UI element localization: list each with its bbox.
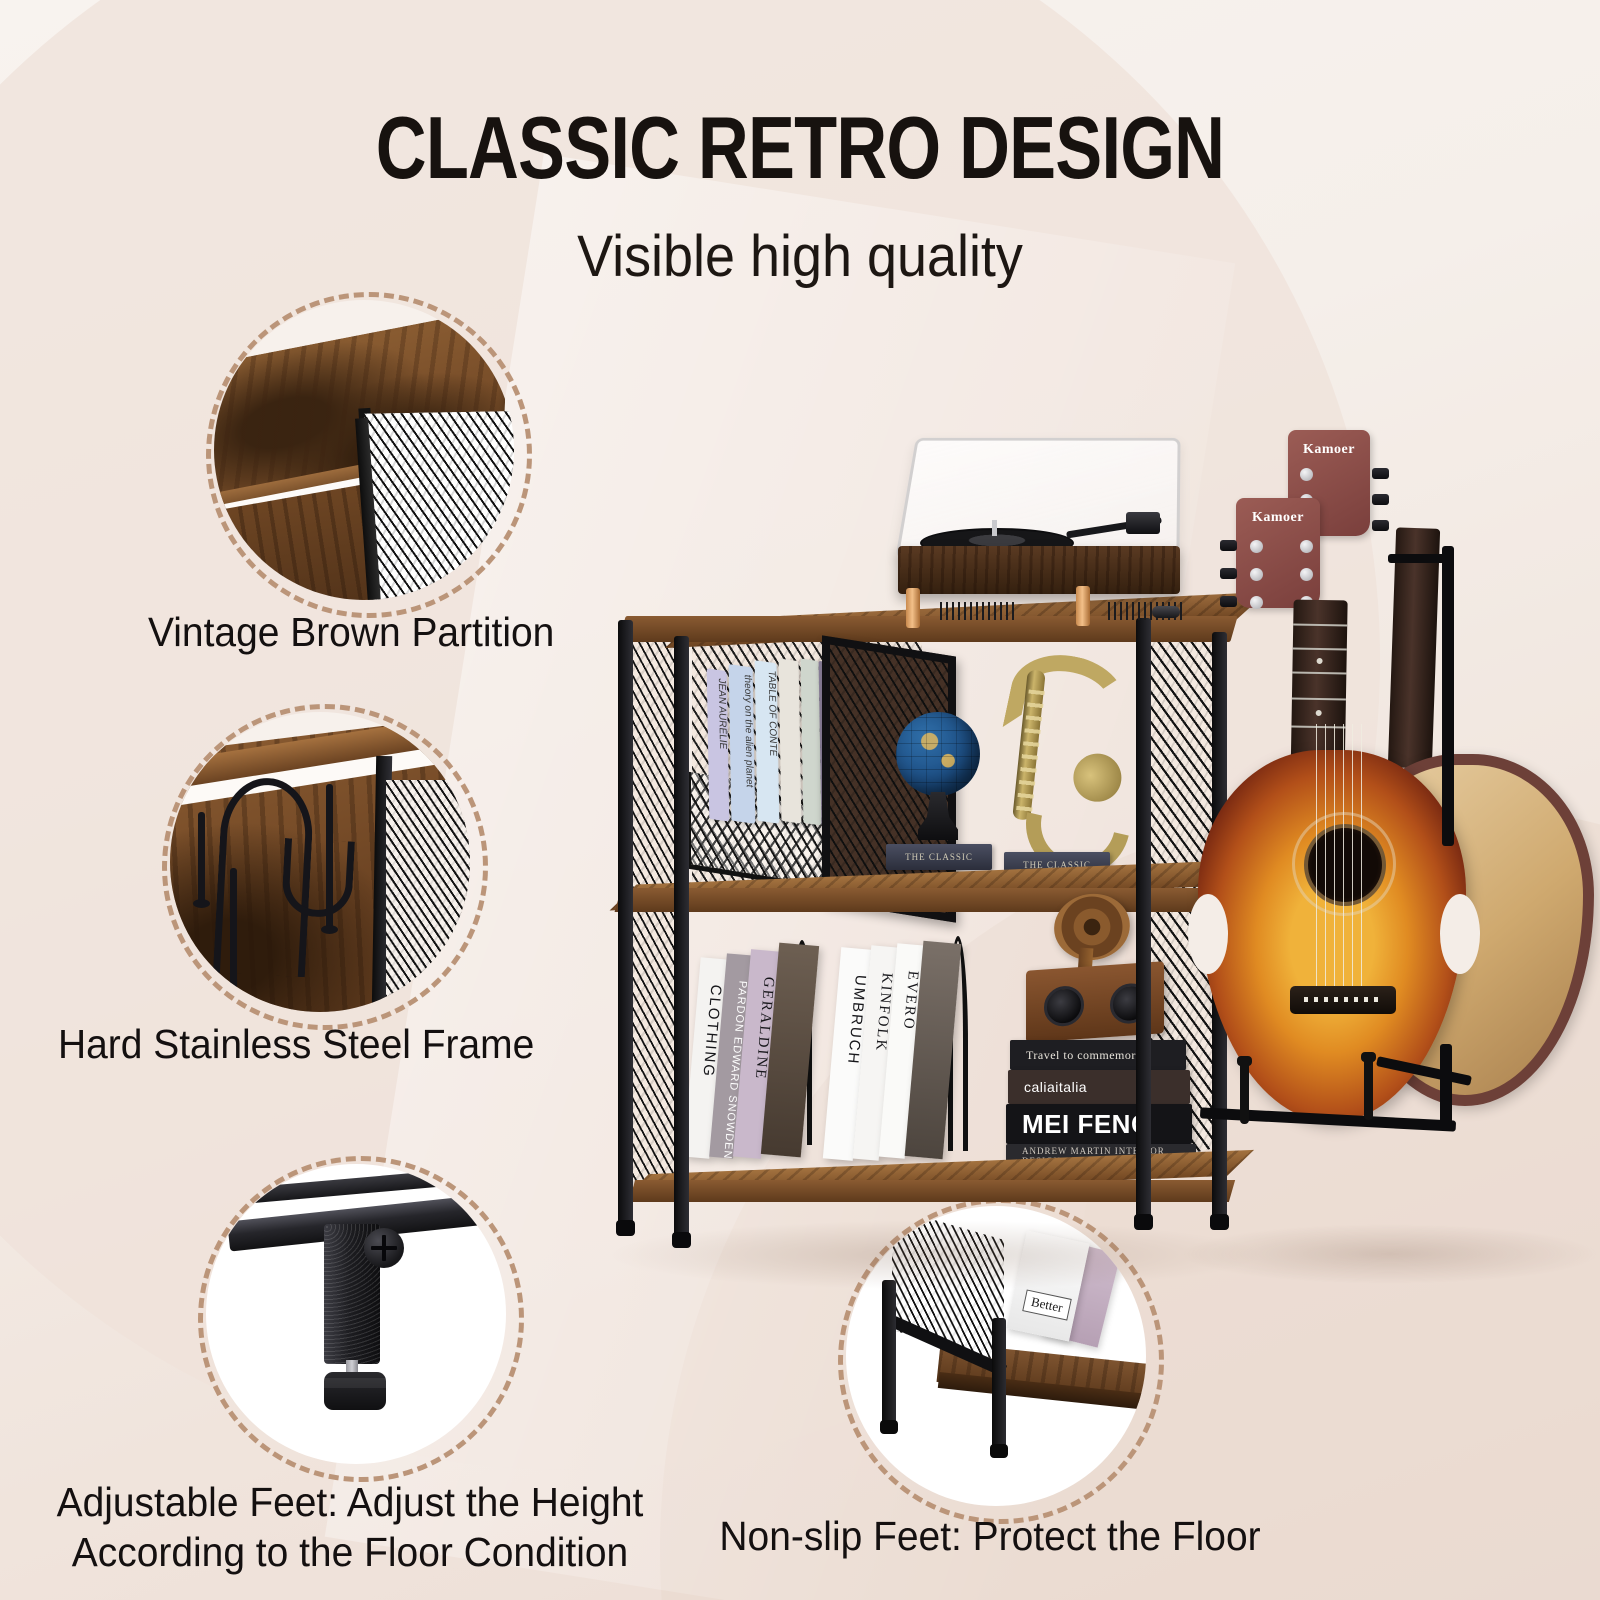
classic-book-base-left: THE CLASSIC [886, 844, 992, 870]
fret [1293, 648, 1347, 651]
caption-non-slip-feet: Non-slip Feet: Protect the Floor [705, 1512, 1275, 1560]
steel-wire-guitar-hook [213, 776, 315, 978]
steel-prong-front [230, 868, 237, 1012]
turntable-copper-foot-left [906, 588, 920, 628]
book-spine: TABLE OF CONTE [755, 660, 780, 824]
page-title: CLASSIC RETRO DESIGN [160, 104, 1440, 192]
stand-prong-right [1364, 1056, 1373, 1120]
guitar-waist-cut-right [1440, 894, 1480, 974]
fret [1293, 624, 1347, 627]
tuner-peg [1372, 468, 1389, 479]
metal-mesh-panel [386, 780, 470, 1010]
tuner-button [1250, 568, 1263, 581]
decor-globe [896, 712, 980, 796]
classic-book-label: THE CLASSIC [886, 844, 992, 862]
non-slip-foot [672, 1232, 691, 1248]
fret [1292, 698, 1346, 701]
tuner-peg [1220, 568, 1237, 579]
tuner-peg [1372, 494, 1389, 505]
guitar-waist-cut-left [1188, 894, 1228, 974]
caption-vintage-brown-partition: Vintage Brown Partition [148, 608, 554, 656]
stand-prong-left [1240, 1060, 1249, 1124]
tuner-button [1300, 540, 1313, 553]
tuner-button [1300, 568, 1313, 581]
adjustable-foot-pad [324, 1372, 386, 1410]
turntable-vent-left [940, 602, 1014, 620]
inset-adjustable-feet [206, 1164, 506, 1464]
caption-adjustable-feet-line2: According to the Floor Condition [18, 1528, 683, 1576]
fret-inlay-dot [1317, 658, 1323, 664]
stand-base-connector [1440, 1044, 1452, 1130]
caption-hard-stainless-steel-frame: Hard Stainless Steel Frame [58, 1020, 534, 1068]
book-spine [779, 658, 802, 823]
page-subtitle: Visible high quality [56, 228, 1544, 286]
tuner-button [1300, 468, 1313, 481]
guitar-brand-label: Kamoer [1236, 498, 1320, 526]
fret [1292, 672, 1346, 675]
fret-inlay-dot [1316, 710, 1322, 716]
leg-with-non-slip-foot-right [992, 1318, 1006, 1448]
guitars-and-stand: Kamoer Kamoer [1140, 424, 1600, 1304]
guitar-bridge [1290, 986, 1396, 1014]
steel-prong-mid [326, 784, 333, 930]
turntable-copper-foot-right [1076, 586, 1090, 626]
guitar-strings [1316, 724, 1364, 994]
steel-prong-left [198, 812, 205, 904]
non-slip-foot [616, 1220, 635, 1236]
tuner-button [1250, 540, 1263, 553]
metal-mesh-panel [364, 411, 514, 600]
turntable-spindle [992, 520, 997, 536]
tuner-button [1250, 596, 1263, 609]
marketing-image-canvas: CLASSIC RETRO DESIGN Visible high qualit… [0, 0, 1600, 1600]
inset-hard-stainless-steel-frame [170, 712, 470, 1012]
book-spine: JEAN AURÉLIE [707, 668, 730, 821]
speaker-driver-left [1044, 985, 1084, 1028]
caption-adjustable-feet-line1: Adjustable Feet: Adjust the Height [18, 1478, 683, 1526]
tuner-peg [1372, 520, 1389, 531]
stand-upright-post [1442, 546, 1454, 846]
phillips-screw-icon [364, 1228, 404, 1268]
guitar-floor-shadow [1180, 1224, 1600, 1284]
book-spine: theory on the alien planet [729, 664, 756, 824]
tuner-peg [1220, 596, 1237, 607]
guitar-headstock-front: Kamoer [1236, 498, 1320, 608]
frame-post-back-left [674, 636, 689, 1236]
guitar-brand-label: Kamoer [1288, 430, 1370, 458]
inset-vintage-brown-partition [214, 300, 514, 600]
tuner-peg [1220, 540, 1237, 551]
turntable-wood-body [898, 546, 1180, 594]
stand-upper-arm [1388, 554, 1450, 563]
frame-post-front-left [618, 620, 633, 1224]
guitar-neck-back [1388, 527, 1440, 768]
